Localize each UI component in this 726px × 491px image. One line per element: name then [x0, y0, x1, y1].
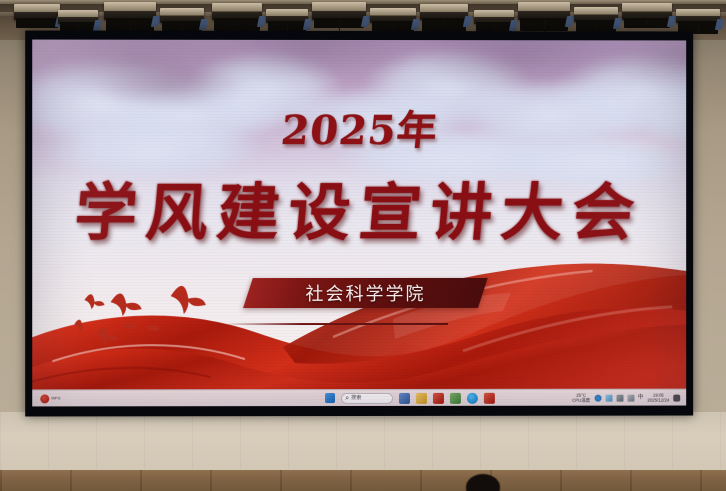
- cpu-temperature-label: CPU温度: [572, 398, 590, 403]
- taskbar-system-tray: 25°C CPU温度 中 19:05 2025/12/24: [572, 392, 686, 403]
- desktop-shortcut-wps-label: WPS: [51, 396, 60, 401]
- slide-flying-birds: [62, 276, 223, 348]
- notification-icon[interactable]: [673, 394, 680, 401]
- led-screen-display: 2025年 学风建设宣讲大会 社会科学学院: [32, 40, 686, 407]
- clock-date: 2025/12/24: [647, 398, 669, 403]
- ime-indicator[interactable]: 中: [638, 394, 643, 401]
- clock-time: 19:05: [653, 392, 664, 397]
- app-icon-edge[interactable]: [467, 392, 478, 403]
- app-icon-wps-presentation[interactable]: [450, 392, 461, 403]
- cpu-temperature-value: 25°C: [576, 392, 586, 397]
- slide-clouds: [32, 40, 686, 41]
- light-cable: [698, 23, 699, 33]
- light-cable: [647, 20, 648, 26]
- slide-divider-rule: [223, 323, 448, 325]
- taskbar-center-region: ⌕ 搜索: [248, 392, 572, 403]
- app-icon-wps-writer[interactable]: [433, 392, 444, 403]
- search-icon: ⌕: [345, 395, 349, 402]
- app-icon-teams[interactable]: [399, 392, 410, 403]
- app-icon-wps-office[interactable]: [484, 392, 495, 403]
- volume-icon[interactable]: [605, 394, 612, 401]
- light-cable: [37, 20, 38, 26]
- light-cable: [237, 20, 238, 26]
- battery-icon[interactable]: [616, 394, 623, 401]
- start-button[interactable]: [325, 393, 335, 403]
- lower-wall-panel: [0, 412, 726, 472]
- slide-org-name: 社会科学学院: [248, 278, 483, 308]
- windows-taskbar[interactable]: WPS ⌕ 搜索: [32, 389, 686, 407]
- wps-icon: [40, 394, 49, 403]
- clock-widget[interactable]: 19:05 2025/12/24: [647, 392, 669, 403]
- cpu-temperature-widget[interactable]: 25°C CPU温度: [572, 392, 590, 403]
- slide-year-text: 2025年: [32, 98, 686, 156]
- search-placeholder: 搜索: [351, 395, 361, 400]
- light-cable: [444, 20, 445, 26]
- search-input[interactable]: ⌕ 搜索: [341, 392, 393, 403]
- cloud-icon[interactable]: [627, 394, 634, 401]
- network-icon[interactable]: [594, 394, 601, 401]
- slide-main-title: 学风建设宣讲大会: [32, 162, 686, 252]
- auditorium-scene: 2025年 学风建设宣讲大会 社会科学学院: [0, 0, 726, 491]
- stage-floor: [0, 470, 726, 491]
- app-icon-explorer[interactable]: [416, 392, 427, 403]
- desktop-shortcut-wps[interactable]: WPS: [40, 394, 60, 403]
- taskbar-left-region: WPS: [32, 394, 248, 403]
- led-screen-frame: 2025年 学风建设宣讲大会 社会科学学院: [25, 31, 693, 417]
